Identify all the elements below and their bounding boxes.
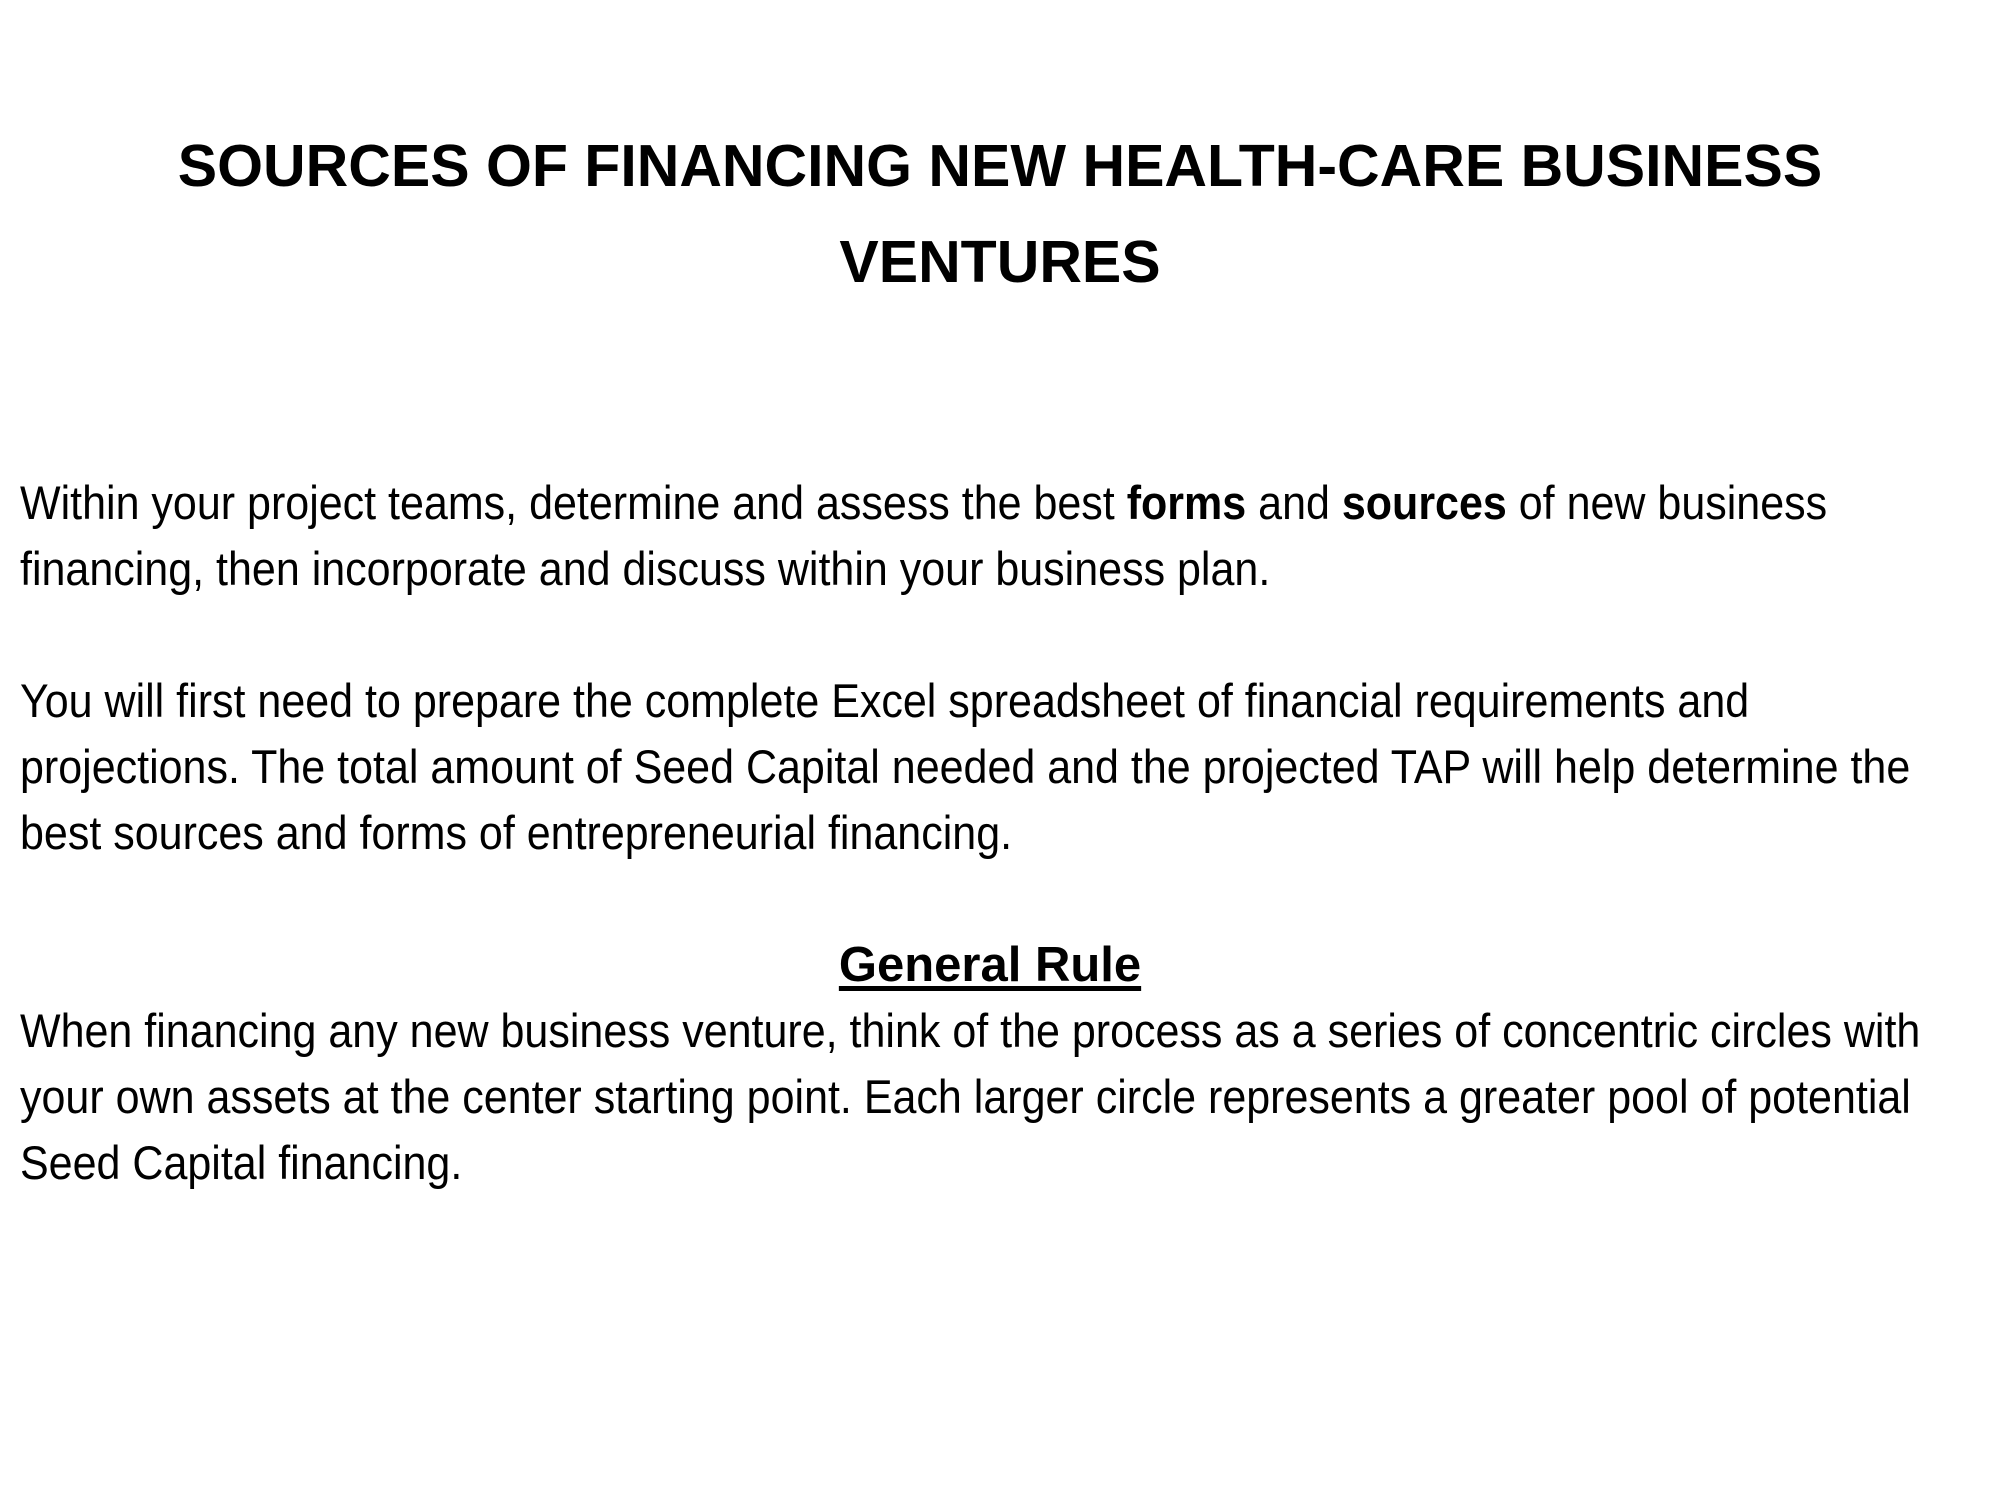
body-paragraph-1: Within your project teams, determine and… [20, 470, 1960, 602]
emphasis-text: forms [1127, 476, 1246, 529]
emphasis-text: sources [1342, 476, 1507, 529]
body-paragraph-3: When financing any new business venture,… [20, 998, 1960, 1196]
plain-text: Within your project teams, determine and… [20, 476, 1127, 529]
plain-text: When financing any new business venture,… [20, 1004, 1920, 1189]
slide-body: Within your project teams, determine and… [20, 470, 1960, 1196]
plain-text: You will first need to prepare the compl… [20, 674, 1910, 859]
page-title: SOURCES OF FINANCING NEW HEALTH-CARE BUS… [40, 118, 1960, 310]
slide-canvas: SOURCES OF FINANCING NEW HEALTH-CARE BUS… [0, 0, 2000, 1500]
general-rule-heading: General Rule [20, 932, 1960, 998]
body-paragraph-2: You will first need to prepare the compl… [20, 668, 1960, 866]
plain-text: and [1246, 476, 1342, 529]
